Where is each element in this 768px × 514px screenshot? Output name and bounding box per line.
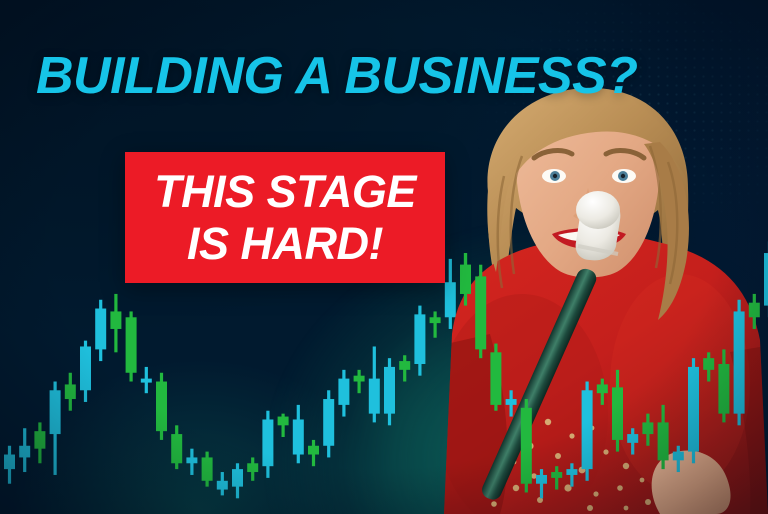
thumbnail-canvas: BUILDING A BUSINESS? THIS STAGE IS HARD!: [0, 0, 768, 514]
callout-line-1: THIS STAGE: [154, 166, 416, 218]
callout-line-2: IS HARD!: [187, 218, 383, 270]
headline-text: BUILDING A BUSINESS?: [36, 50, 638, 102]
callout-box: THIS STAGE IS HARD!: [125, 152, 445, 283]
